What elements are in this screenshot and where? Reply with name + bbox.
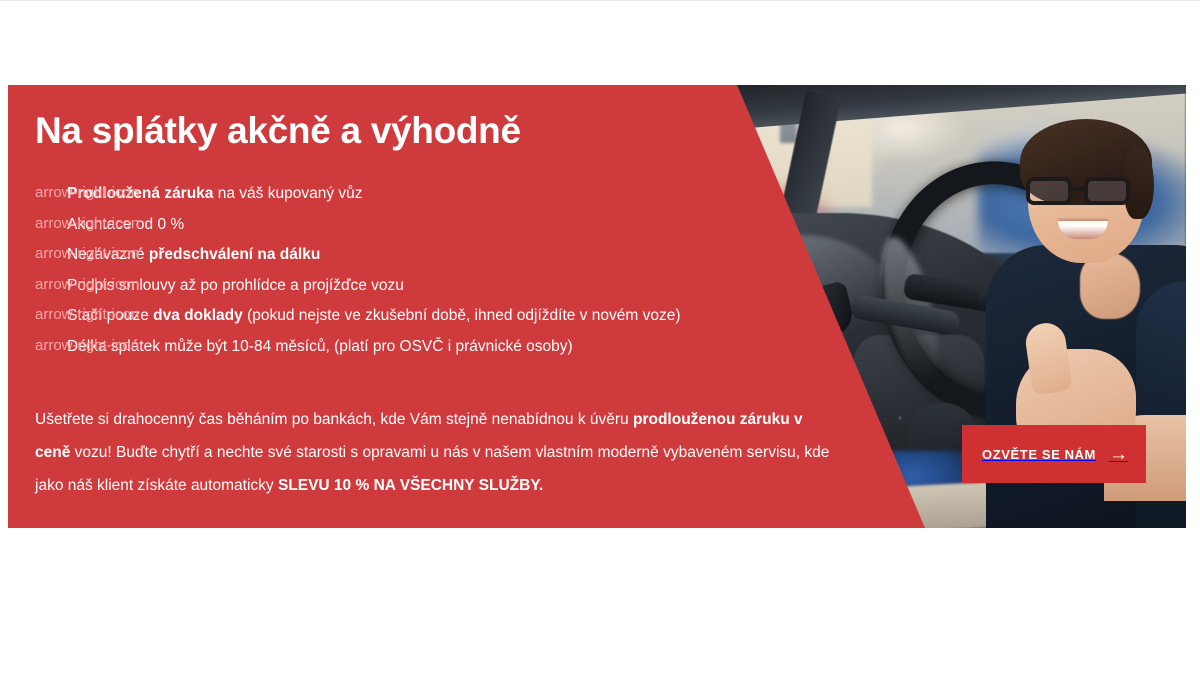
banner-headline: Na splátky akčně a výhodně: [35, 110, 521, 152]
arrow-right-icon: arrow-right-icon: [35, 337, 139, 355]
benefit-item-3-bold: předschválení na dálku: [149, 246, 320, 263]
paragraph-part-1: Ušetřete si drahocenný čas běháním po ba…: [35, 411, 633, 428]
page-top-divider: [0, 0, 1200, 1]
arrow-right-icon: arrow-right-icon: [35, 245, 139, 263]
benefit-list: arrow-right-icon Prodloužená záruka na v…: [35, 185, 835, 368]
arrow-right-icon: arrow-right-icon: [35, 184, 139, 202]
arrow-right-icon: →: [1109, 445, 1128, 464]
promo-banner: Na splátky akčně a výhodně arrow-right-i…: [8, 85, 1186, 528]
photo-glasses-lens-left: [1026, 177, 1072, 205]
benefit-item-5-bold: dva doklady: [153, 307, 243, 324]
arrow-right-icon: arrow-right-icon: [35, 306, 139, 324]
contact-us-button-label: OZVĚTE SE NÁM: [982, 447, 1096, 462]
benefit-item-1-text: na váš kupovaný vůz: [213, 185, 362, 202]
benefit-item-4: arrow-right-icon Podpis smlouvy až po pr…: [35, 277, 835, 295]
arrow-right-icon: arrow-right-icon: [35, 215, 139, 233]
benefit-item-1: arrow-right-icon Prodloužená záruka na v…: [35, 185, 835, 203]
benefit-item-2: arrow-right-icon Akontace od 0 %: [35, 216, 835, 234]
arrow-right-icon: arrow-right-icon: [35, 276, 139, 294]
benefit-item-5: arrow-right-icon Stačí pouze dva doklady…: [35, 307, 835, 325]
benefit-item-6-text: Délka splátek může být 10-84 měsíců, (pl…: [67, 338, 573, 355]
benefit-item-5-text: (pokud nejste ve zkušební době, ihned od…: [243, 307, 681, 324]
paragraph-bold-2: SLEVU 10 % NA VŠECHNY SLUŽBY.: [278, 477, 543, 494]
glasses-icon: [1026, 177, 1144, 205]
benefit-item-6: arrow-right-icon Délka splátek může být …: [35, 338, 835, 356]
benefit-item-3: arrow-right-icon Nezávazné předschválení…: [35, 246, 835, 264]
contact-us-button[interactable]: OZVĚTE SE NÁM →: [962, 425, 1146, 483]
page-root: Na splátky akčně a výhodně arrow-right-i…: [0, 0, 1200, 678]
banner-content: Na splátky akčně a výhodně arrow-right-i…: [8, 85, 928, 528]
photo-glasses-lens-right: [1084, 177, 1130, 205]
banner-paragraph: Ušetřete si drahocenný čas běháním po ba…: [35, 403, 835, 502]
